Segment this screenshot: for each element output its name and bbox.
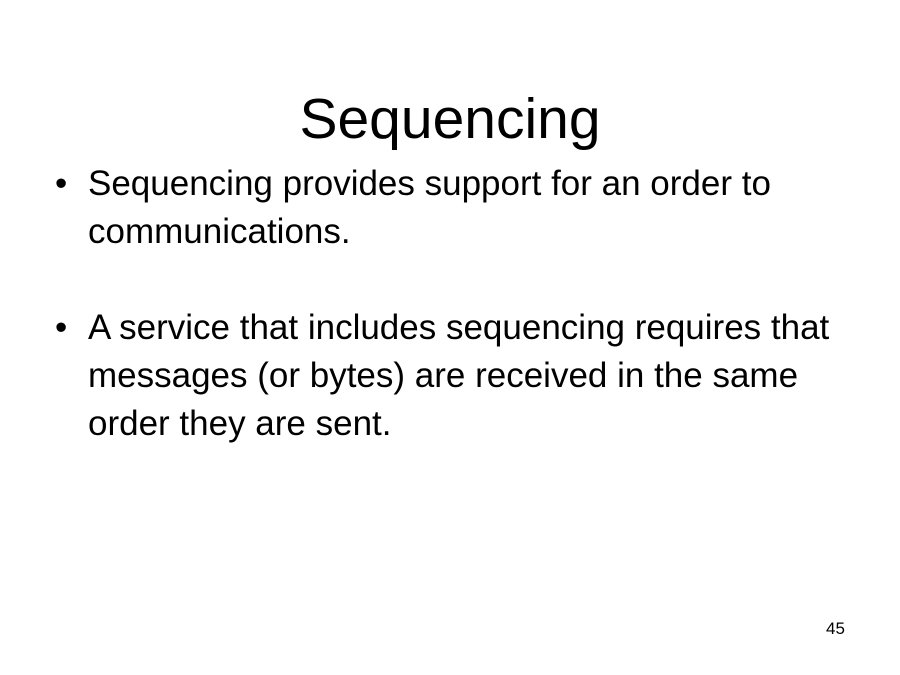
- slide-title: Sequencing: [0, 87, 900, 151]
- bullet-list: • Sequencing provides support for an ord…: [50, 160, 850, 448]
- list-item: • Sequencing provides support for an ord…: [50, 160, 850, 256]
- bullet-text: Sequencing provides support for an order…: [88, 160, 850, 256]
- bullet-point-icon: •: [55, 160, 71, 208]
- page-number: 45: [826, 619, 845, 639]
- bullet-point-icon: •: [55, 304, 71, 352]
- presentation-slide: Sequencing • Sequencing provides support…: [0, 0, 900, 675]
- bullet-text: A service that includes sequencing requi…: [88, 304, 850, 448]
- list-item: • A service that includes sequencing req…: [50, 304, 850, 448]
- list-spacer: [50, 256, 850, 304]
